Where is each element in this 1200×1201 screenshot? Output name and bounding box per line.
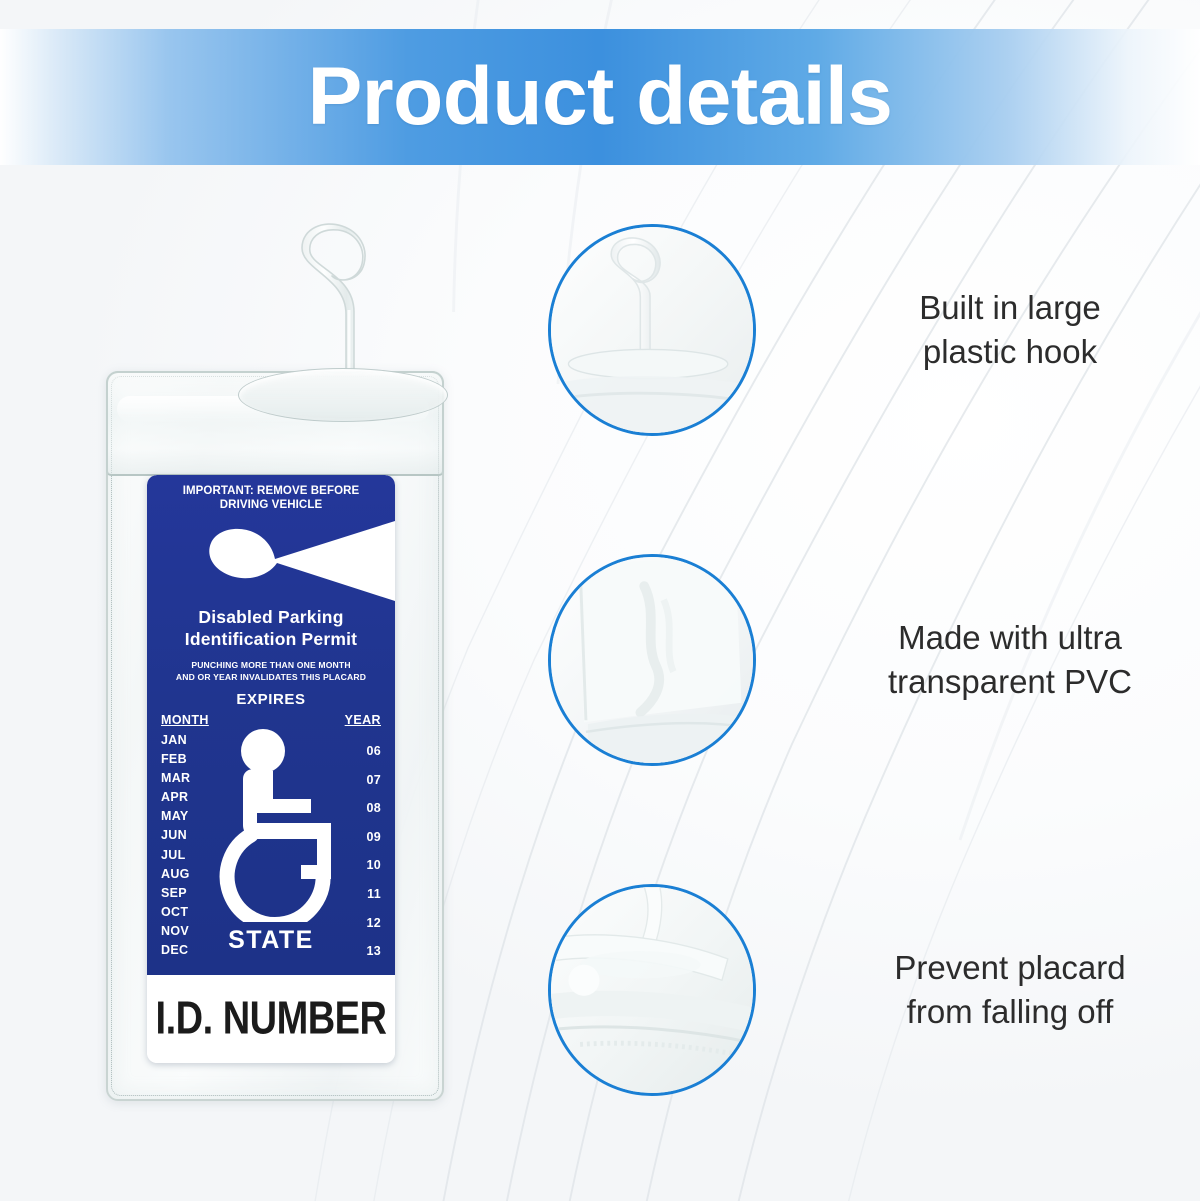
- placard-retention-closeup-photo: [548, 884, 756, 1096]
- product-image: IMPORTANT: REMOVE BEFORE DRIVING VEHICLE…: [95, 200, 455, 1110]
- pvc-material-closeup-photo: [548, 554, 756, 766]
- placard-year-09: 09: [351, 823, 381, 852]
- placard-id-band: I.D. NUMBER: [147, 975, 395, 1063]
- feature-1-text: Built in large plastic hook: [756, 286, 1188, 373]
- feature-3-text: Prevent placard from falling off: [756, 946, 1188, 1033]
- feature-prevent-placard-from-falling-off: Prevent placard from falling off: [548, 882, 1188, 1098]
- feature-1-line1: Built in large: [832, 286, 1188, 330]
- placard-year-06: 06: [351, 737, 381, 766]
- feature-built-in-large-plastic-hook: Built in large plastic hook: [548, 222, 1188, 438]
- placard-title-line2: Identification Permit: [147, 628, 395, 650]
- feature-2-line1: Made with ultra: [832, 616, 1188, 660]
- placard-year-header: YEAR: [345, 713, 381, 727]
- page-title: Product details: [0, 29, 1200, 165]
- placard-fineprint-line1: PUNCHING MORE THAN ONE MONTH: [147, 659, 395, 671]
- feature-2-text: Made with ultra transparent PVC: [756, 616, 1188, 703]
- placard-warning-line1: IMPORTANT: REMOVE BEFORE: [147, 484, 395, 498]
- placard-warning-line2: DRIVING VEHICLE: [147, 498, 395, 512]
- placard-warning: IMPORTANT: REMOVE BEFORE DRIVING VEHICLE: [147, 484, 395, 513]
- placard-expires-label: EXPIRES: [147, 691, 395, 708]
- placard-title-line1: Disabled Parking: [147, 606, 395, 628]
- disabled-parking-placard: IMPORTANT: REMOVE BEFORE DRIVING VEHICLE…: [147, 475, 395, 1063]
- hook-closeup-photo: [548, 224, 756, 436]
- product-details-infographic: Product details: [0, 0, 1200, 1201]
- wheelchair-icon: [205, 727, 345, 922]
- placard-state-label: STATE: [147, 926, 395, 955]
- placard-month-header: MONTH: [161, 713, 209, 727]
- placard-title: Disabled Parking Identification Permit: [147, 606, 395, 651]
- placard-year-07: 07: [351, 766, 381, 795]
- hook-base-plate: [238, 368, 448, 422]
- placard-punch-cutout: [147, 519, 395, 603]
- placard-year-11: 11: [351, 880, 381, 909]
- placard-year-08: 08: [351, 794, 381, 823]
- placard-fineprint: PUNCHING MORE THAN ONE MONTH AND OR YEAR…: [147, 659, 395, 684]
- feature-3-line2: from falling off: [832, 990, 1188, 1034]
- feature-1-line2: plastic hook: [832, 330, 1188, 374]
- feature-2-line2: transparent PVC: [832, 660, 1188, 704]
- feature-3-line1: Prevent placard: [832, 946, 1188, 990]
- placard-fineprint-line2: AND OR YEAR INVALIDATES THIS PLACARD: [147, 671, 395, 683]
- placard-year-10: 10: [351, 851, 381, 880]
- feature-made-with-ultra-transparent-pvc: Made with ultra transparent PVC: [548, 552, 1188, 768]
- placard-id-label: I.D. NUMBER: [156, 993, 387, 1045]
